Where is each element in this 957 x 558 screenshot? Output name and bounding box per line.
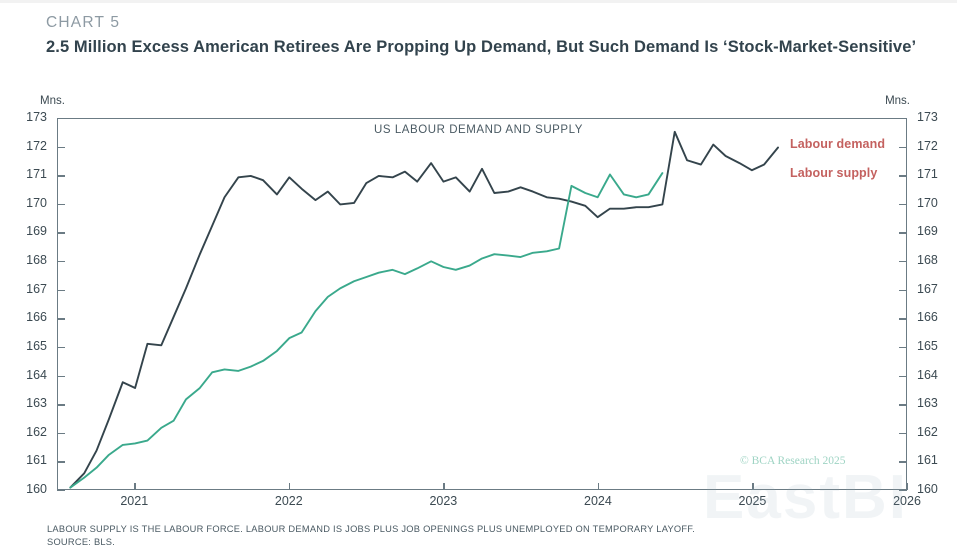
- y-tick-mark-right-163: [899, 404, 907, 405]
- x-tick-label-2025: 2025: [739, 494, 767, 508]
- y-tick-label-left-166: 166: [26, 311, 47, 324]
- y-tick-label-right-162: 162: [917, 426, 938, 439]
- legend-label-labour-supply: Labour supply: [790, 166, 877, 180]
- x-tick-label-2023: 2023: [429, 494, 457, 508]
- series-line-labour-supply: [70, 173, 662, 488]
- y-tick-label-left-173: 173: [26, 111, 47, 124]
- chart-page: CHART 5 2.5 Million Excess American Reti…: [0, 0, 957, 558]
- y-tick-label-left-162: 162: [26, 426, 47, 439]
- x-tick-mark-2024: [598, 483, 599, 490]
- y-tick-label-right-168: 168: [917, 254, 938, 267]
- y-tick-label-right-172: 172: [917, 140, 938, 153]
- y-tick-label-right-165: 165: [917, 340, 938, 353]
- y-tick-label-right-166: 166: [917, 311, 938, 324]
- y-tick-label-left-172: 172: [26, 140, 47, 153]
- x-tick-label-2021: 2021: [120, 494, 148, 508]
- chart-number-label: CHART 5: [46, 14, 120, 32]
- x-tick-label-2026: 2026: [893, 494, 921, 508]
- series-line-labour-demand: [70, 132, 778, 488]
- y-tick-label-right-169: 169: [917, 225, 938, 238]
- y-tick-mark-right-167: [899, 290, 907, 291]
- y-tick-mark-left-168: [57, 261, 65, 262]
- plot-area: [57, 118, 907, 490]
- y-tick-mark-left-173: [57, 118, 65, 119]
- y-tick-mark-right-160: [899, 490, 907, 491]
- y-tick-label-left-171: 171: [26, 168, 47, 181]
- x-tick-label-2022: 2022: [275, 494, 303, 508]
- x-tick-label-2024: 2024: [584, 494, 612, 508]
- y-tick-mark-left-160: [57, 490, 65, 491]
- y-tick-label-right-163: 163: [917, 397, 938, 410]
- footnote: LABOUR SUPPLY IS THE LABOUR FORCE. LABOU…: [47, 523, 695, 549]
- y-tick-mark-right-170: [899, 204, 907, 205]
- y-tick-label-left-168: 168: [26, 254, 47, 267]
- footnote-source: SOURCE: BLS.: [47, 536, 695, 549]
- y-tick-mark-left-171: [57, 175, 65, 176]
- y-tick-mark-left-172: [57, 147, 65, 148]
- y-axis-unit-right: Mns.: [885, 95, 910, 107]
- x-tick-mark-2026: [907, 483, 908, 490]
- x-tick-mark-2025: [752, 483, 753, 490]
- y-tick-mark-right-161: [899, 461, 907, 462]
- page-title: 2.5 Million Excess American Retirees Are…: [46, 36, 926, 59]
- y-tick-mark-left-165: [57, 347, 65, 348]
- x-tick-mark-2023: [443, 483, 444, 490]
- y-tick-mark-left-162: [57, 433, 65, 434]
- y-tick-label-left-163: 163: [26, 397, 47, 410]
- y-tick-label-left-161: 161: [26, 454, 47, 467]
- y-tick-mark-left-170: [57, 204, 65, 205]
- y-tick-mark-right-166: [899, 318, 907, 319]
- y-tick-label-left-167: 167: [26, 283, 47, 296]
- y-tick-mark-left-167: [57, 290, 65, 291]
- y-tick-label-left-169: 169: [26, 225, 47, 238]
- y-tick-label-right-167: 167: [917, 283, 938, 296]
- y-tick-mark-right-165: [899, 347, 907, 348]
- top-divider: [0, 0, 957, 3]
- y-tick-mark-right-171: [899, 175, 907, 176]
- copyright-notice: © BCA Research 2025: [740, 455, 846, 467]
- y-tick-label-right-164: 164: [917, 369, 938, 382]
- x-tick-mark-2022: [289, 483, 290, 490]
- y-tick-label-right-161: 161: [917, 454, 938, 467]
- y-tick-label-left-164: 164: [26, 369, 47, 382]
- y-tick-mark-right-162: [899, 433, 907, 434]
- y-tick-label-left-170: 170: [26, 197, 47, 210]
- y-tick-mark-right-164: [899, 376, 907, 377]
- y-tick-label-right-170: 170: [917, 197, 938, 210]
- series-canvas: [58, 119, 906, 489]
- y-tick-label-right-171: 171: [917, 168, 938, 181]
- footnote-definition: LABOUR SUPPLY IS THE LABOUR FORCE. LABOU…: [47, 524, 695, 534]
- x-tick-mark-2021: [134, 483, 135, 490]
- y-tick-mark-right-169: [899, 232, 907, 233]
- y-tick-mark-left-163: [57, 404, 65, 405]
- y-tick-label-right-173: 173: [917, 111, 938, 124]
- y-tick-mark-right-168: [899, 261, 907, 262]
- y-tick-mark-left-164: [57, 376, 65, 377]
- y-tick-label-left-165: 165: [26, 340, 47, 353]
- y-tick-label-left-160: 160: [26, 483, 47, 496]
- y-tick-mark-right-172: [899, 147, 907, 148]
- y-tick-mark-left-166: [57, 318, 65, 319]
- y-tick-mark-left-169: [57, 232, 65, 233]
- y-axis-unit-left: Mns.: [40, 95, 65, 107]
- legend-label-labour-demand: Labour demand: [790, 137, 885, 151]
- y-tick-mark-right-173: [899, 118, 907, 119]
- y-tick-mark-left-161: [57, 461, 65, 462]
